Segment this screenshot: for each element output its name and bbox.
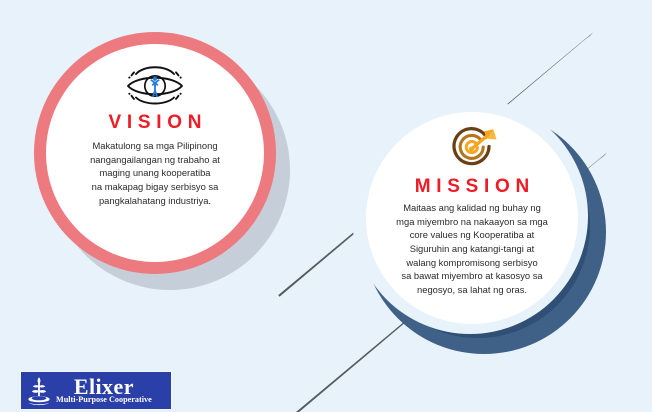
eye-vision-icon xyxy=(122,62,188,106)
vision-content-disc: VISION Makatulong sa mga Pilipinong nang… xyxy=(46,44,264,262)
mission-title: MISSION xyxy=(409,177,535,196)
vision-panel: VISION Makatulong sa mga Pilipinong nang… xyxy=(22,22,298,298)
logo-name: Elixer xyxy=(74,377,134,398)
logo-text-group: Elixer Multi-Purpose Cooperative xyxy=(56,377,152,405)
target-arrow-icon xyxy=(444,126,500,172)
company-logo[interactable]: Elixer Multi-Purpose Cooperative xyxy=(20,371,172,410)
vision-body-text: Makatulong sa mga Pilipinong nangangaila… xyxy=(62,139,248,207)
vision-title: VISION xyxy=(103,113,207,132)
mission-content-disc: MISSION Maitaas ang kalidad ng buhay ng … xyxy=(366,112,578,324)
sprout-emblem-icon xyxy=(25,375,53,406)
mission-panel: MISSION Maitaas ang kalidad ng buhay ng … xyxy=(350,98,618,366)
mission-body-text: Maitaas ang kalidad ng buhay ng mga miye… xyxy=(381,201,563,296)
logo-tagline: Multi-Purpose Cooperative xyxy=(56,396,152,404)
infographic-canvas: VISION Makatulong sa mga Pilipinong nang… xyxy=(0,0,652,412)
